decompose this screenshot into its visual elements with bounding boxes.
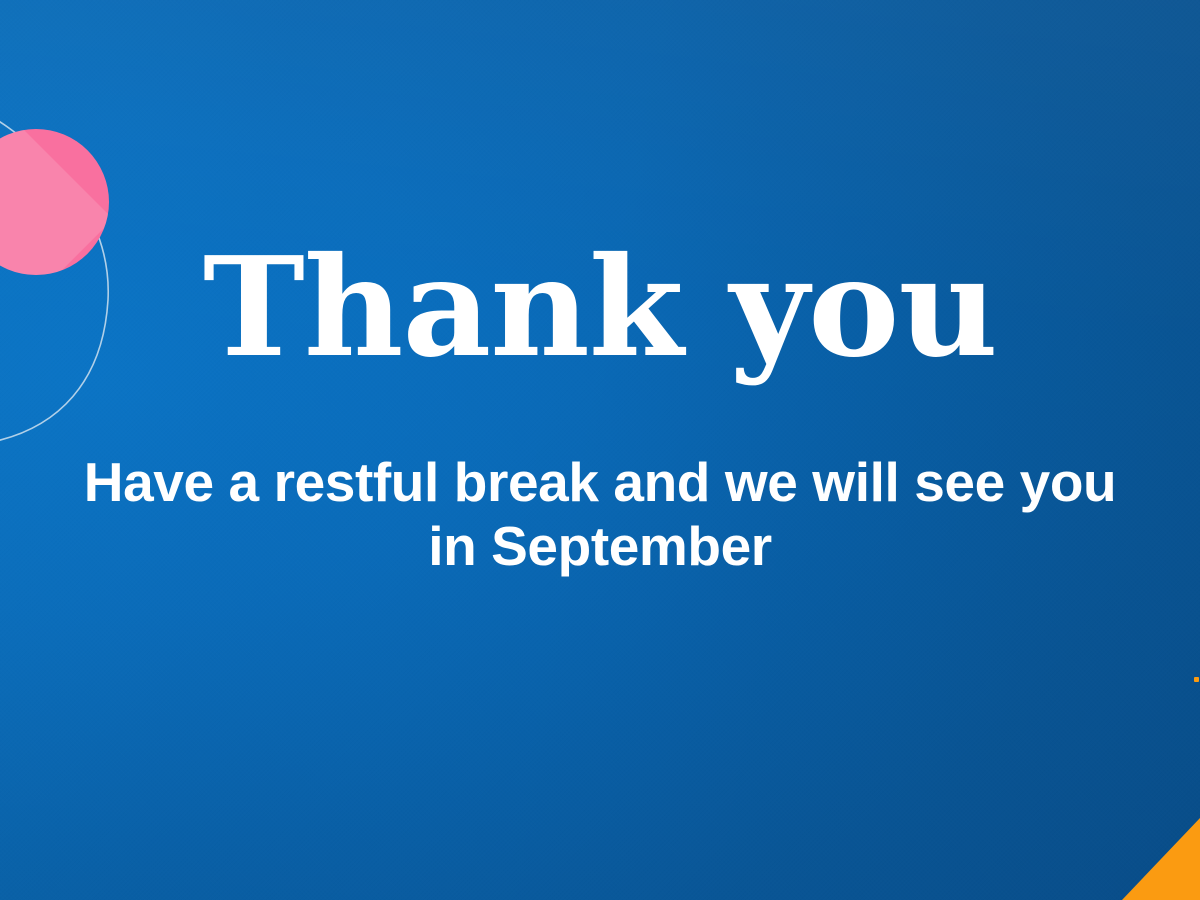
slide-subtitle: Have a restful break and we will see you… <box>10 450 1190 578</box>
thank-you-slide: Thank you Have a restful break and we wi… <box>0 0 1200 900</box>
subtitle-line-2: in September <box>10 514 1190 578</box>
subtitle-line-1: Have a restful break and we will see you <box>10 450 1190 514</box>
page-title: Thank you <box>0 239 1200 376</box>
slide-content: Thank you Have a restful break and we wi… <box>0 0 1200 900</box>
